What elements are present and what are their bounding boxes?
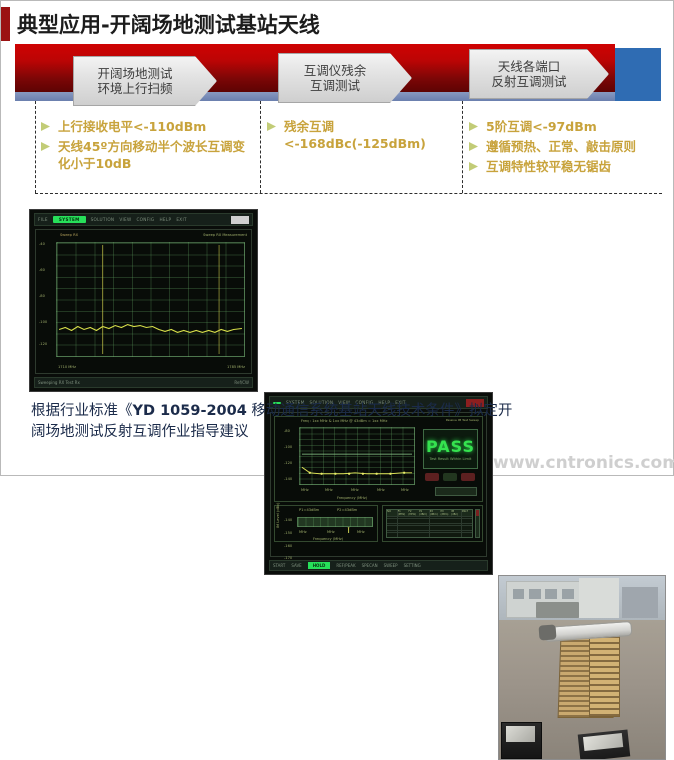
button-setting[interactable]: SETTING [404,563,421,568]
photo-building-right [622,587,659,618]
y-tick-label: -40 [39,242,45,246]
list-item: 上行接收电平<-110dBm [41,119,256,136]
button-sweep[interactable]: SWEEP [384,563,398,568]
y-tick-label: -140 [284,477,292,481]
x-tick-label: MHz [301,488,309,492]
step-1-line-1: 开阔场地测试 [97,66,172,81]
y-axis-label: IM Level (dBc) [276,503,280,528]
step-2-line-2: 互调测试 [310,78,360,93]
menu-item-view[interactable]: VIEW [119,217,131,222]
step-callout-3[interactable]: 天线各端口 反射互调测试 [469,49,609,99]
triangle-bullet-icon [41,122,53,131]
bullet-text: 残余互调<-168dBc(-125dBm) [284,119,457,153]
photo-window [545,589,557,599]
y-tick-label: -150 [284,531,292,535]
step-3-line-2: 反射互调测试 [491,74,566,89]
p2-label: P2=43dBm [337,508,357,512]
step-1-line-2: 环境上行扫频 [97,81,172,96]
watermark: www.cntronics.com [493,453,674,473]
button-specan[interactable]: SPECAN [362,563,378,568]
x-tick-label: MHz [351,488,359,492]
indicator-lamp-mid [443,473,457,481]
slide-canvas: 典型应用-开阔场地测试基站天线 开阔场地测试 环境上行扫频 互调仪残余 互调测试… [0,0,674,476]
bullet-text: 上行接收电平<-110dBm [58,119,206,136]
y-tick-label: -100 [284,445,292,449]
triangle-bullet-icon [41,142,53,151]
table-header-cell: RSLT [462,510,472,516]
photo-window [513,589,525,599]
divider-vertical-3 [462,101,463,193]
y-tick-label: -140 [284,518,292,522]
instrument-left-menubar[interactable]: FILE SYSTEM SOLUTION VIEW CONFIG HELP EX… [34,213,253,226]
caption-text: 根据行业标准《YD 1059-2004 移动通信系统基站天线技术条件》拟定开阔场… [31,401,521,443]
caption-prefix: 根据行业标准《 [31,403,133,419]
list-item: 残余互调<-168dBc(-125dBm) [267,119,457,153]
y-tick-label: -100 [39,320,47,324]
button-ref-peak[interactable]: REF/PEAK [336,563,355,568]
table-header-cell: IM (dBm) [440,510,450,516]
photo-equipment-case-right [577,729,629,760]
x-axis-start-label: 1710 MHz [58,365,76,369]
bullet-column-2: 残余互调<-168dBc(-125dBm) [267,119,457,156]
instrument-left-screen: Sweep RX Sweep RX Measurement -40 -60 -8… [35,229,252,374]
results-table-panel: NOF1 (MHz)F2 (MHz)P1 (dBm)P2 (dBm)IM (dB… [382,505,483,542]
triangle-bullet-icon [469,162,481,171]
table-cell [462,535,472,537]
triangle-bullet-icon [469,122,481,131]
y-tick-label: -60 [39,268,45,272]
x-tick-label: MHz [357,530,365,534]
table-header-cell: NO [387,510,397,516]
table-header-cell: IM (dBc) [451,510,461,516]
x-tick-label: MHz [327,530,335,534]
bullet-column-1: 上行接收电平<-110dBm 天线45º方向移动半个波长互调变化小于10dB [41,119,256,175]
divider-vertical-2 [260,101,261,193]
table-cell [398,535,408,537]
verdict-subtext: Test Result Within Limit [430,457,472,461]
photo-window [562,589,574,599]
bullet-text: 互调特性较平稳无锯齿 [486,159,611,176]
table-header-cell: F2 (MHz) [408,510,418,516]
step-2-line-1: 互调仪残余 [304,63,367,78]
list-item: 遵循预热、正常、敲击原则 [469,139,667,156]
photo-building-center [579,578,619,618]
x-tick-label: MHz [377,488,385,492]
ribbon-blue-end [615,48,661,101]
table-scrollbar[interactable] [475,509,480,538]
spectrum-trace [57,243,244,356]
menu-item-help[interactable]: HELP [159,217,171,222]
photo-pallet-stack-side [589,631,621,717]
step-3-line-1: 天线各端口 [498,59,561,74]
table-cell [387,535,397,537]
list-item: 天线45º方向移动半个波长互调变化小于10dB [41,139,256,173]
bullet-text: 遵循预热、正常、敲击原则 [486,139,636,156]
x-axis-label: Frequency (MHz) [337,496,367,500]
x-tick-label: MHz [325,488,333,492]
button-hold[interactable]: HOLD [308,562,331,569]
indicator-lamp-right [461,473,475,481]
y-tick-label: -160 [284,544,292,548]
button-start[interactable]: START [273,563,285,568]
step-callout-1[interactable]: 开阔场地测试 环境上行扫频 [73,56,217,106]
status-text-left: Sweeping RX Test Rx [38,380,80,385]
table-header-cell: F1 (MHz) [398,510,408,516]
caption-middle: 移动通信系统基站天线技术条件》 [247,403,469,419]
photo-truck [536,602,579,618]
instrument-left-statusbar: Sweeping RX Test Rx Ref/CW [34,377,253,388]
instrument-mid-toolbar[interactable]: START SAVE HOLD REF/PEAK SPECAN SWEEP SE… [269,560,488,571]
button-save[interactable]: SAVE [291,563,301,568]
p1-label: P1=43dBm [299,508,319,512]
photo-equipment-case-left [501,722,543,759]
list-item: 5阶互调<-97dBm [469,119,667,136]
y-tick-label: -120 [284,461,292,465]
spec-select-dropdown[interactable] [435,487,477,496]
photo-case-panel [583,732,623,750]
trace-annotation: Sweep RX [60,233,78,237]
table-cell [440,535,450,537]
menu-item-file[interactable]: FILE [38,217,48,222]
divider-vertical-1 [35,101,36,193]
y-tick-label: -120 [39,342,47,346]
im-level-panel: P1=43dBm P2=43dBm -140 -150 -160 -170 MH… [274,505,378,542]
bullet-column-3: 5阶互调<-97dBm 遵循预热、正常、敲击原则 互调特性较平稳无锯齿 [469,119,667,178]
bullet-text: 5阶互调<-97dBm [486,119,597,136]
window-control-icon[interactable] [231,216,249,224]
table-cell [451,535,461,537]
bullet-text: 天线45º方向移动半个波长互调变化小于10dB [58,139,256,173]
caption-standard: YD 1059-2004 [133,403,247,419]
status-text-right: Ref/CW [234,380,249,385]
x-axis-label: Frequency (MHz) [313,537,343,541]
list-item: 互调特性较平稳无锯齿 [469,159,667,176]
menu-item-system[interactable]: SYSTEM [53,216,86,223]
im-level-plot [297,517,373,527]
page-title: 典型应用-开阔场地测试基站天线 [1,4,674,44]
indicator-lamp-left [425,473,439,481]
menu-item-exit[interactable]: EXIT [176,217,187,222]
y-tick-label: -80 [39,294,45,298]
results-table[interactable]: NOF1 (MHz)F2 (MHz)P1 (dBm)P2 (dBm)IM (dB… [386,509,473,538]
plot-title: Sweep RX Measurement [203,233,247,237]
table-cell [430,535,440,537]
field-test-photo [498,575,666,760]
table-header-cell: P1 (dBm) [419,510,429,516]
menu-item-solution[interactable]: SOLUTION [91,217,115,222]
photo-antenna-end-cap [538,625,556,641]
title-accent-bar [1,7,10,41]
table-cell [408,535,418,537]
table-header-cell: P2 (dBm) [430,510,440,516]
menu-item-config[interactable]: CONFIG [136,217,154,222]
x-tick-label: MHz [299,530,307,534]
table-cell [419,535,429,537]
page-title-text: 典型应用-开阔场地测试基站天线 [17,9,320,39]
x-tick-label: MHz [401,488,409,492]
triangle-bullet-icon [267,122,279,131]
spectrum-plot [56,242,245,357]
divider-horizontal [35,193,662,194]
table-scrollbar-thumb[interactable] [476,510,479,516]
photo-window [529,589,541,599]
triangle-bullet-icon [469,142,481,151]
step-callout-2[interactable]: 互调仪残余 互调测试 [278,53,412,103]
instrument-screenshot-left: FILE SYSTEM SOLUTION VIEW CONFIG HELP EX… [29,209,258,392]
photo-case-panel [506,726,534,742]
x-axis-stop-label: 1785 MHz [227,365,245,369]
